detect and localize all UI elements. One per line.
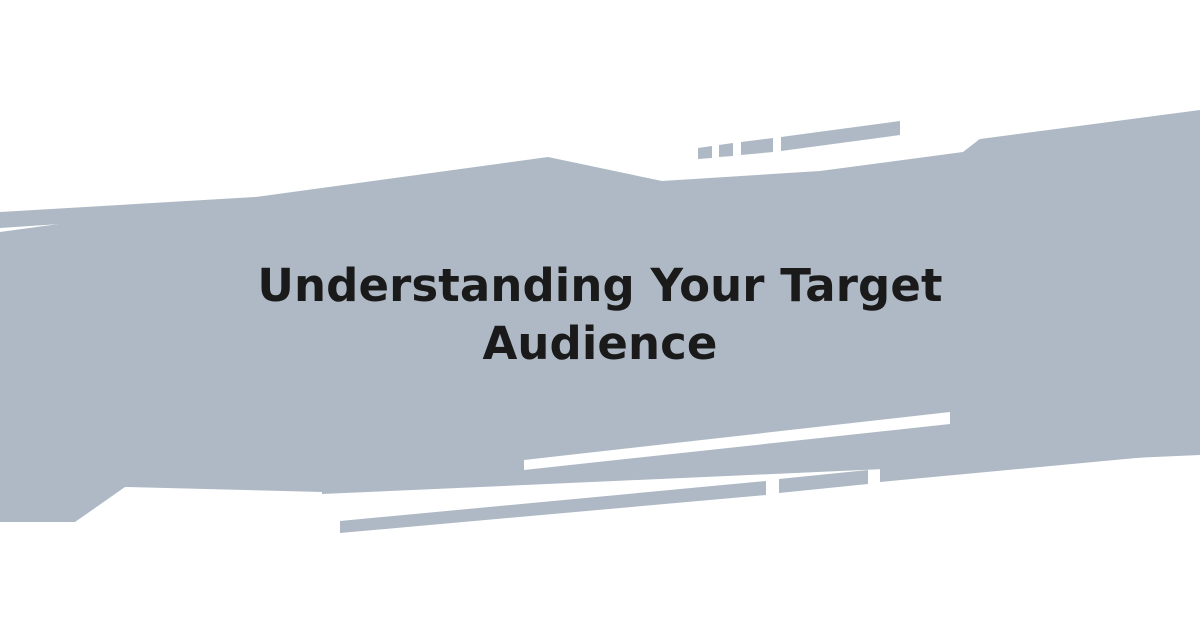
dash-segment-2 bbox=[719, 143, 733, 157]
dash-segment-1 bbox=[698, 146, 712, 159]
banner-card: Understanding Your Target Audience bbox=[0, 0, 1200, 630]
decorative-banner-graphic bbox=[0, 0, 1200, 630]
